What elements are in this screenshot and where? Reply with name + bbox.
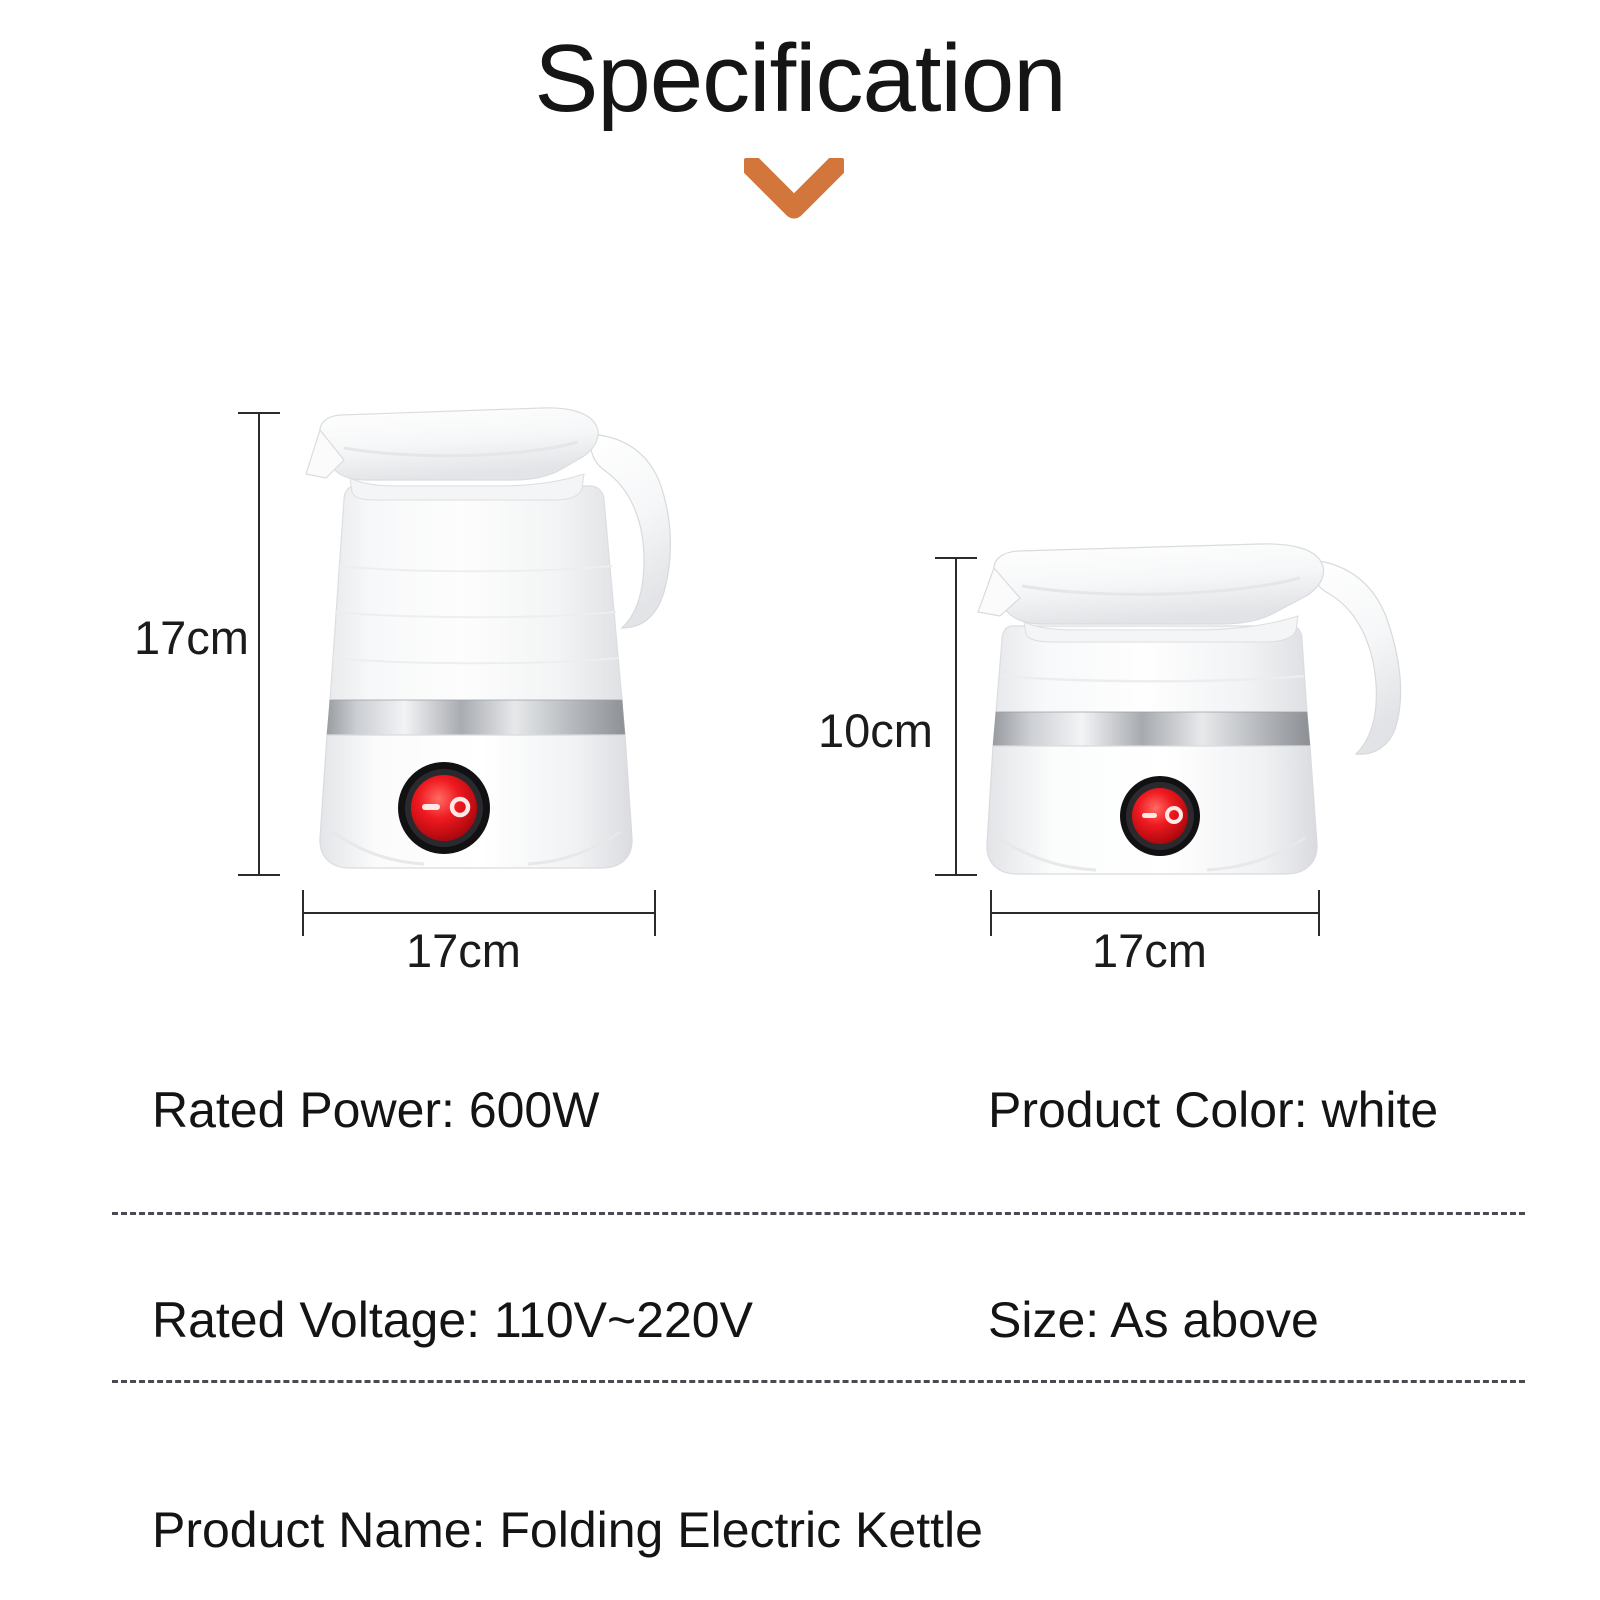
- page-title: Specification: [0, 24, 1600, 134]
- spec-divider: [112, 1212, 1525, 1215]
- specification-list: Rated Power: 600W Product Color: white R…: [0, 1060, 1600, 1580]
- product-image-kettle-collapsed: [960, 530, 1460, 880]
- dimension-line-width-right: [990, 912, 1320, 914]
- chevron-down-icon: [744, 158, 844, 220]
- product-image-kettle-expanded: [292, 400, 752, 880]
- dimension-cap-right-bottom-left: [654, 890, 656, 936]
- dimension-label-width-left: 17cm: [406, 925, 521, 977]
- spec-row: Rated Voltage: 110V~220V Size: As above: [0, 1270, 1600, 1370]
- dimension-line-width-left: [302, 912, 656, 914]
- dimension-cap-bottom-left: [238, 874, 280, 876]
- spec-row: Product Name: Folding Electric Kettle: [0, 1480, 1600, 1580]
- spec-size: Size: As above: [988, 1270, 1319, 1370]
- spec-product-color: Product Color: white: [988, 1060, 1438, 1160]
- dimension-line-height-right: [955, 557, 957, 876]
- spec-row: Rated Power: 600W Product Color: white: [0, 1060, 1600, 1160]
- spec-rated-voltage: Rated Voltage: 110V~220V: [152, 1270, 753, 1370]
- spec-divider: [112, 1380, 1525, 1383]
- spec-product-name: Product Name: Folding Electric Kettle: [152, 1480, 983, 1580]
- specification-page: Specification 17cm: [0, 0, 1600, 1600]
- dimension-label-height-right: 10cm: [818, 705, 933, 757]
- dimension-label-height-left: 17cm: [134, 612, 249, 664]
- dimension-cap-right-bottom-right: [1318, 890, 1320, 936]
- spec-rated-power: Rated Power: 600W: [152, 1060, 599, 1160]
- dimension-label-width-right: 17cm: [1092, 925, 1207, 977]
- dimension-line-height-left: [258, 412, 260, 876]
